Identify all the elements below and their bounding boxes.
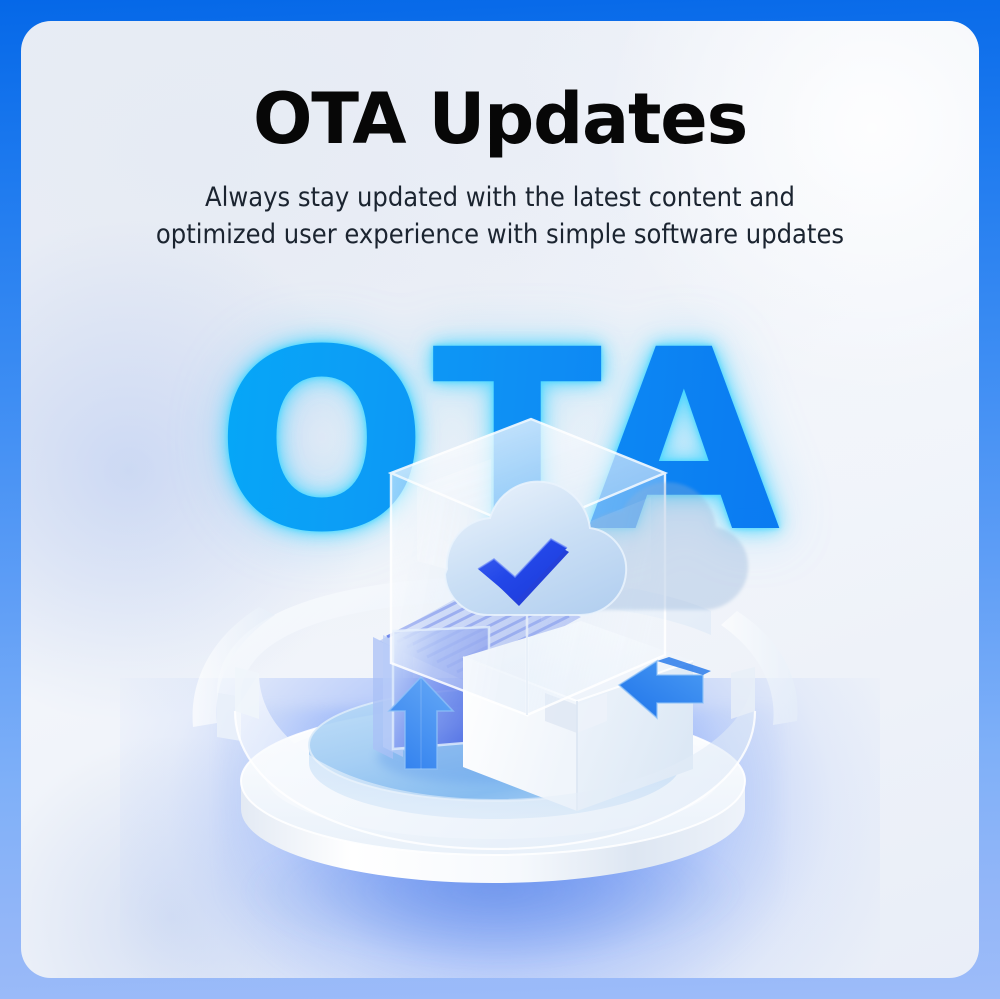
header: OTA Updates Always stay updated with the… bbox=[21, 21, 979, 253]
subtitle: Always stay updated with the latest cont… bbox=[21, 179, 979, 254]
page-title: OTA Updates bbox=[21, 83, 979, 157]
poster-frame: OTA Updates Always stay updated with the… bbox=[0, 0, 1000, 999]
subtitle-line-2: optimized user experience with simple so… bbox=[21, 216, 979, 253]
subtitle-line-1: Always stay updated with the latest cont… bbox=[21, 179, 979, 216]
content-card: OTA Updates Always stay updated with the… bbox=[21, 21, 979, 978]
